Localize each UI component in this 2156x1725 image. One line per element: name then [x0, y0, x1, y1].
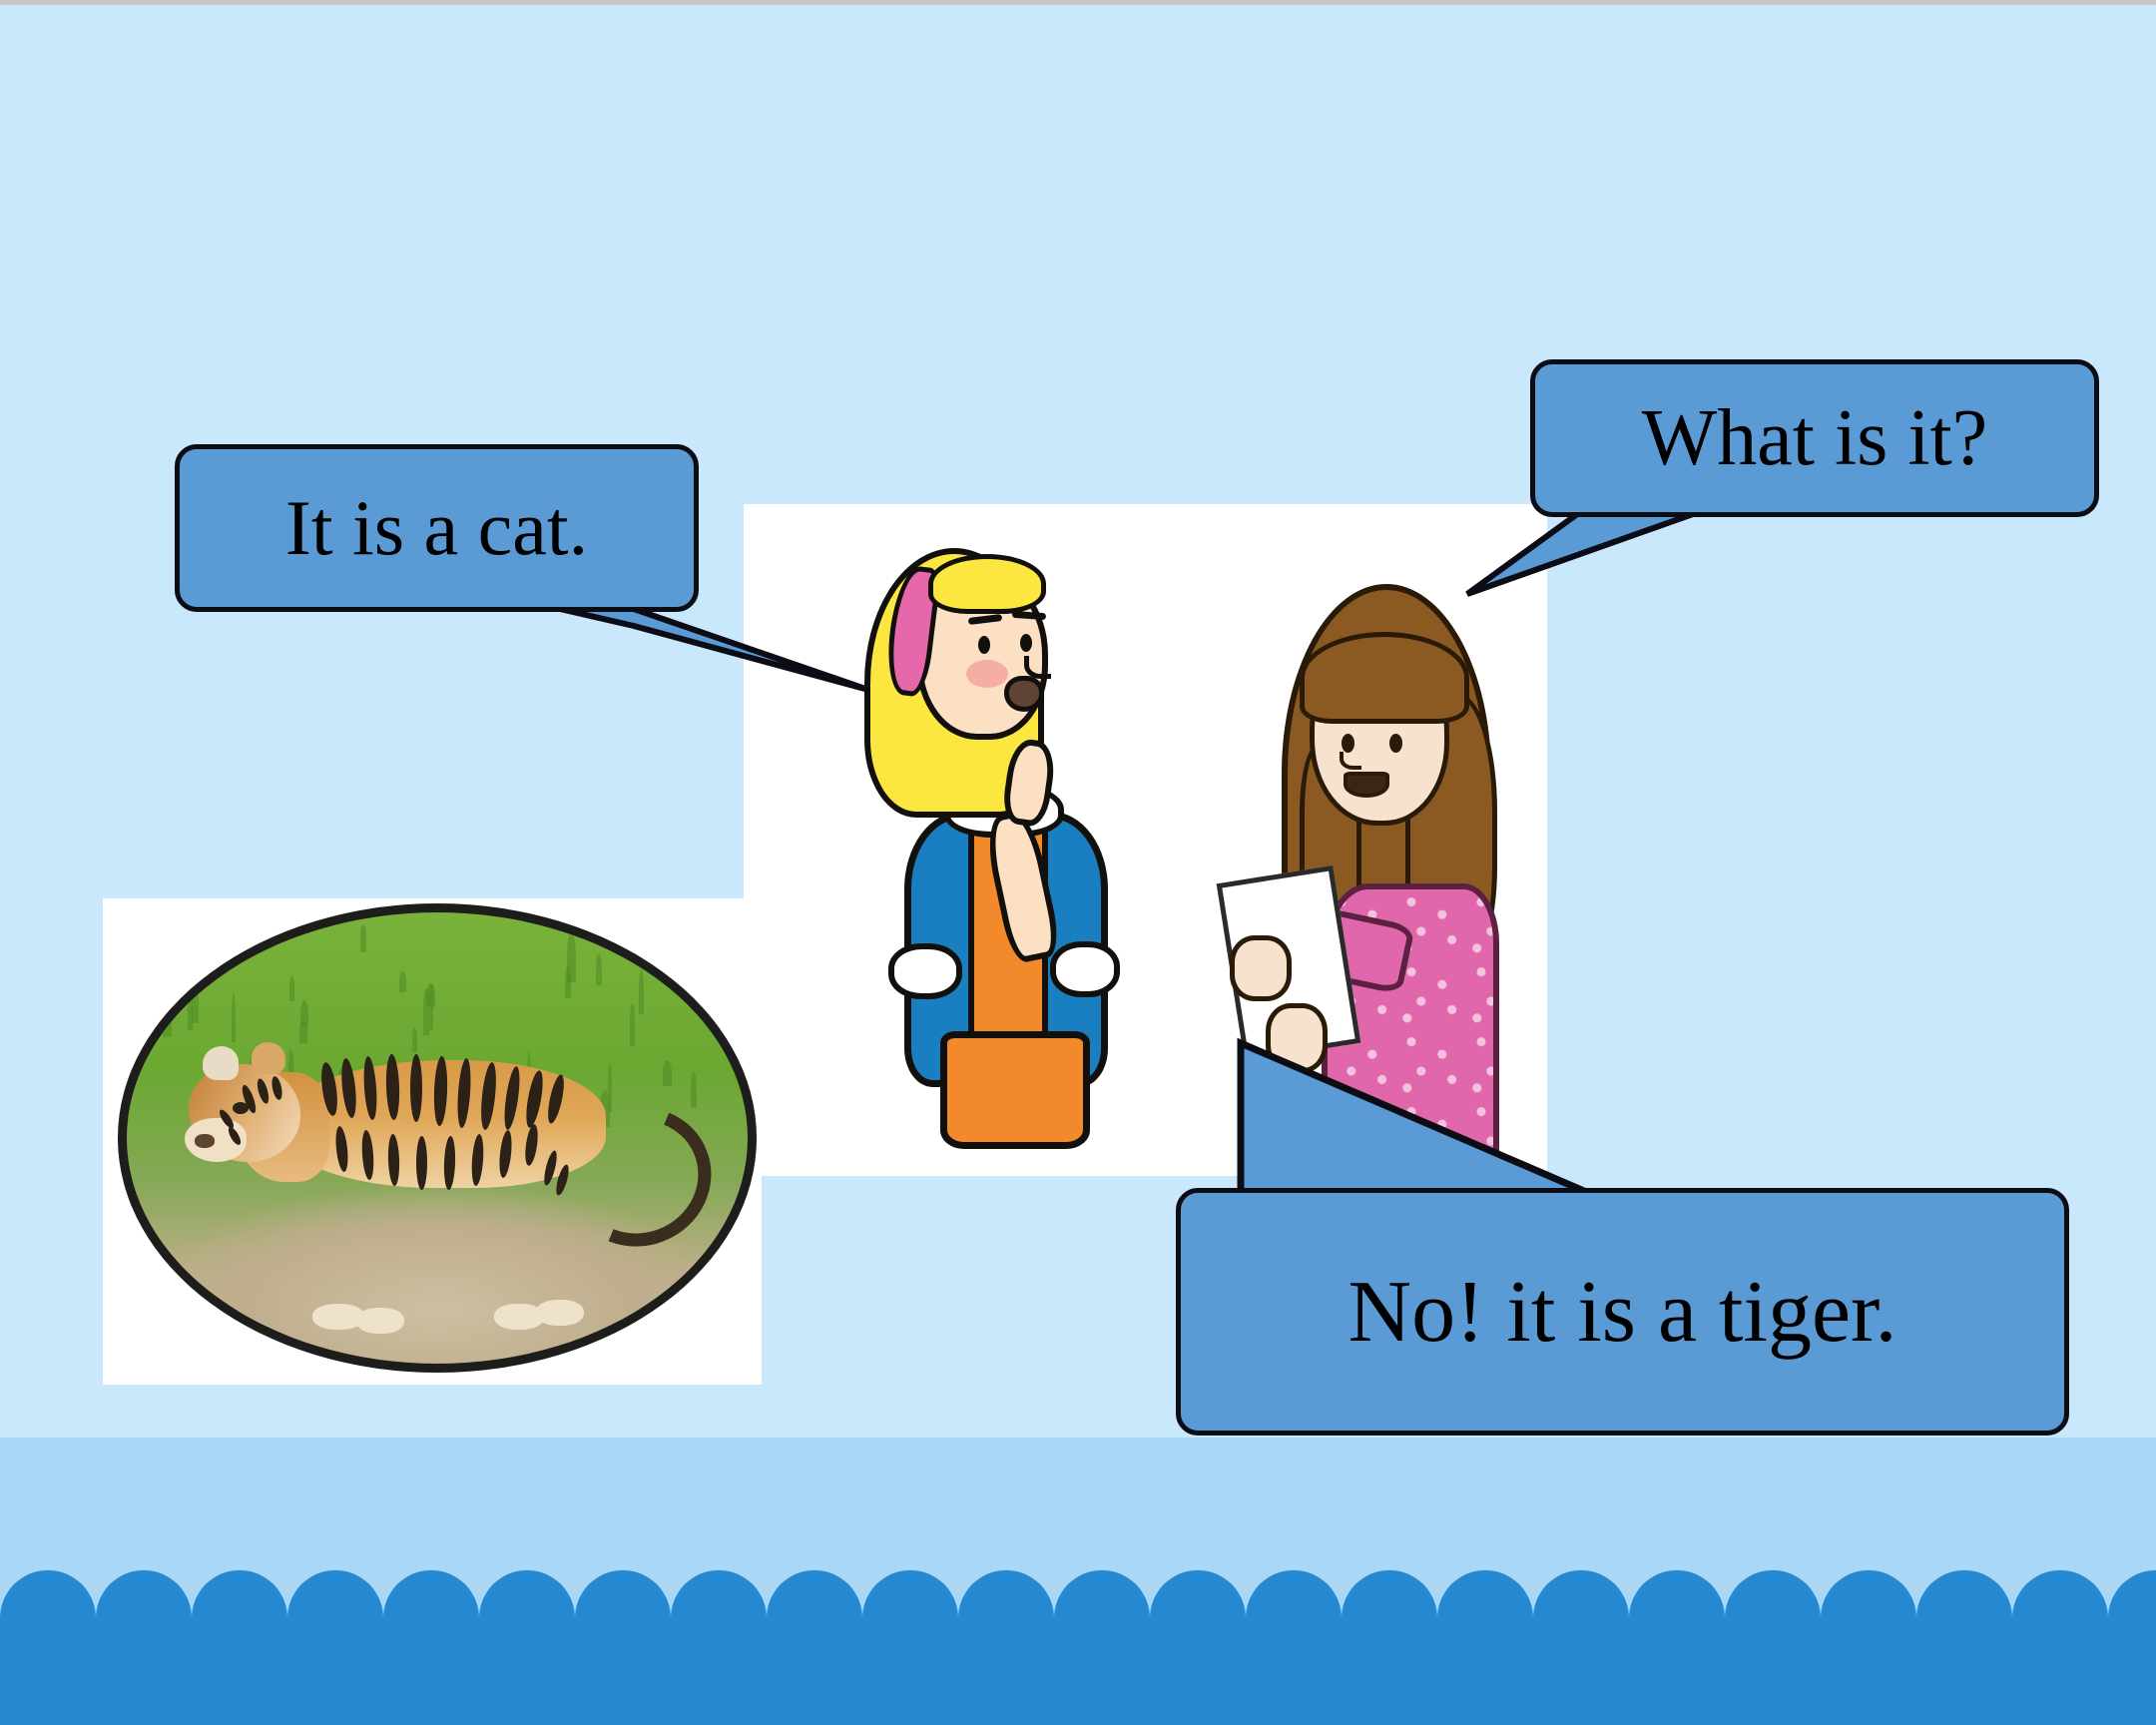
dome-shape: [240, 1662, 335, 1725]
grass-tuft: [163, 996, 172, 1037]
speech-bubble-tiger[interactable]: No! it is a tiger.: [1176, 1188, 2069, 1436]
speech-bubble-cat-text: It is a cat.: [285, 483, 588, 573]
dome-shape: [719, 1662, 814, 1725]
dome-shape: [1389, 1662, 1485, 1725]
slide-canvas: It is a cat. What is it? No! it is a tig…: [0, 0, 2156, 1725]
tiger-leg-fore-far: [318, 1170, 354, 1320]
grass-tuft: [704, 958, 709, 978]
brunette-girl-eye-right: [1389, 734, 1402, 753]
grass-tuft: [692, 933, 697, 952]
dome-shape: [0, 1662, 48, 1725]
dome-shape: [1006, 1662, 1102, 1725]
tiger-stripe: [410, 1054, 422, 1122]
dome-shape: [2060, 1662, 2156, 1725]
speech-bubble-what[interactable]: What is it?: [1530, 359, 2099, 517]
dome-shape: [1964, 1662, 2060, 1725]
tiger-stripe: [416, 1136, 427, 1190]
dome-shape: [623, 1662, 719, 1725]
grass-tuft: [164, 943, 172, 964]
grass-tuft: [192, 986, 200, 1024]
brunette-girl-hand-upper: [1230, 935, 1292, 1001]
dome-shape: [910, 1662, 1006, 1725]
dome-shape: [1869, 1662, 1964, 1725]
dome-row-bottom: [0, 1622, 2156, 1725]
blonde-girl-cuff-right: [1050, 941, 1120, 997]
grass-tuft: [630, 1003, 635, 1046]
dome-shape: [1677, 1662, 1773, 1725]
grass-tuft: [423, 989, 428, 1035]
dome-shape: [1581, 1662, 1677, 1725]
dome-shape: [1773, 1662, 1869, 1725]
grass-tuft: [412, 1027, 417, 1053]
tiger-ear-left: [203, 1046, 239, 1080]
blonde-girl-cuff-left: [888, 943, 962, 999]
grass-tuft: [596, 954, 601, 984]
grass-tuft: [232, 993, 236, 1042]
grass-tuft: [727, 963, 732, 997]
blonde-girl-bangs: [928, 554, 1046, 614]
speech-bubble-tiger-text: No! it is a tiger.: [1348, 1262, 1897, 1363]
blonde-girl-eye-left: [978, 636, 990, 654]
grass-tuft: [567, 932, 576, 981]
grass-tuft: [429, 983, 433, 1029]
dome-shape: [48, 1662, 144, 1725]
tiger-paw-2: [356, 1308, 404, 1334]
blonde-girl-eye-right: [1020, 634, 1032, 652]
grass-tuft: [143, 1015, 150, 1044]
dome-shape: [1102, 1662, 1198, 1725]
dome-shape: [1198, 1662, 1294, 1725]
tiger-paw-4: [536, 1300, 584, 1326]
dome-shape: [527, 1662, 623, 1725]
dome-shape: [1294, 1662, 1389, 1725]
tiger-ear-right: [252, 1042, 285, 1074]
brunette-girl-eye-left: [1342, 734, 1354, 753]
grass-tuft: [299, 1020, 307, 1043]
grass-tuft: [639, 969, 644, 1015]
speech-bubble-what-text: What is it?: [1642, 393, 1988, 484]
dome-shape: [144, 1662, 240, 1725]
brunette-girl-mouth: [1344, 772, 1389, 798]
brunette-girl-bangs: [1300, 632, 1469, 724]
grass-tuft: [360, 924, 366, 951]
grass-tuft: [691, 1072, 696, 1108]
dome-shape: [335, 1662, 431, 1725]
dome-shape: [814, 1662, 910, 1725]
blonde-girl-cheek: [966, 660, 1008, 688]
tiger-leg-hind-far: [498, 1170, 536, 1322]
tiger-leg-fore-near: [358, 1174, 390, 1322]
grass-tuft: [289, 976, 294, 1001]
grass-tuft: [663, 1060, 671, 1086]
grass-tuft: [399, 971, 406, 993]
speech-bubble-cat[interactable]: It is a cat.: [175, 444, 699, 612]
grass-tuft: [180, 935, 188, 968]
blonde-girl-mouth: [1004, 676, 1044, 712]
tiger-photo-oval: [118, 903, 757, 1373]
blonde-girl-skirt: [940, 1031, 1090, 1149]
dome-shape: [431, 1662, 527, 1725]
tiger-nose: [195, 1134, 215, 1148]
dome-shape: [1485, 1662, 1581, 1725]
